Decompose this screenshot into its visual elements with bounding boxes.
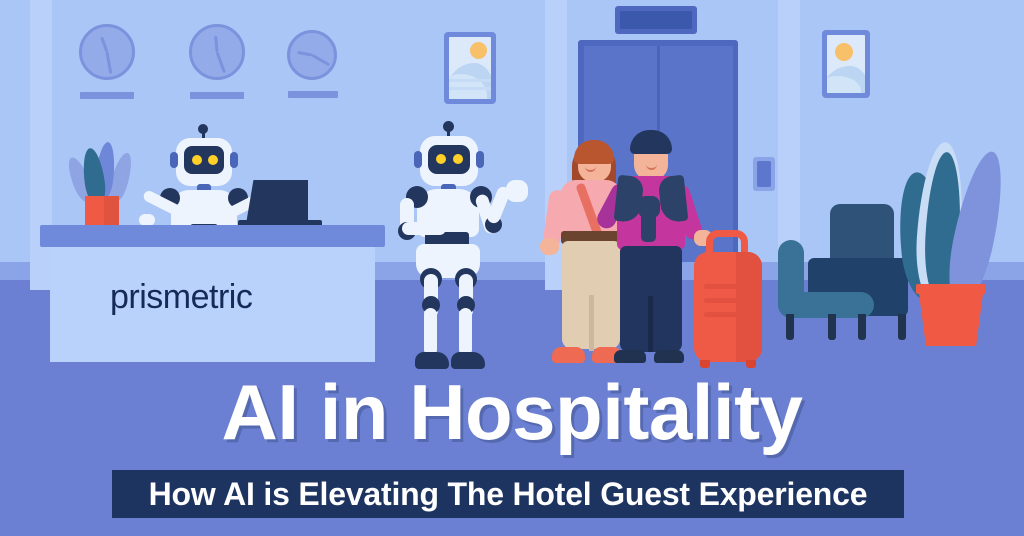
brand-logo: prismetric	[110, 278, 252, 317]
clock-hour-hand	[297, 51, 312, 57]
robot-ear-right	[230, 152, 238, 168]
robot-shin-right	[459, 308, 472, 356]
clock-minute-hand	[216, 51, 226, 73]
robot-antenna-ball	[198, 124, 208, 134]
elevator-indicator-screen	[620, 11, 692, 29]
clock-left-plate	[80, 92, 134, 99]
clock-left	[79, 24, 135, 80]
robot-eye-right	[453, 154, 463, 164]
armchair-leg	[858, 314, 866, 340]
guest-scarf-tail	[641, 212, 656, 242]
robot-antenna-ball	[443, 121, 454, 132]
laptop-screen	[246, 180, 308, 224]
guest-shoe-left	[552, 347, 585, 363]
page-title: AI in Hospitality	[0, 372, 1024, 452]
hospitality-banner: prismetric	[0, 0, 1024, 536]
guest-pants-split	[589, 295, 594, 351]
robot-shin-left	[424, 308, 437, 356]
wall-art-canvas	[449, 37, 491, 99]
wall-switch[interactable]	[753, 157, 775, 191]
guest-pants-split	[648, 296, 653, 352]
guest-shoe-right	[654, 350, 684, 363]
wall-art-left	[444, 32, 496, 104]
wall-art-canvas	[827, 35, 865, 93]
suitcase-shading	[736, 252, 762, 362]
wall-switch-plate	[757, 161, 771, 187]
robot-face-screen	[184, 146, 224, 174]
suitcase-stripe	[704, 312, 750, 317]
plant-pot	[918, 286, 984, 346]
suitcase-wheel	[700, 360, 710, 368]
page-subtitle: How AI is Elevating The Hotel Guest Expe…	[149, 476, 868, 513]
clock-right-plate	[288, 91, 338, 98]
elevator-indicator	[615, 6, 697, 34]
wall-art-right	[822, 30, 870, 98]
robot-ear-right	[476, 151, 484, 168]
reception-desk-counter	[40, 225, 385, 247]
robot-ear-left	[170, 152, 178, 168]
suitcase-wheel	[746, 360, 756, 368]
robot-face-screen	[428, 145, 470, 174]
clock-center-plate	[190, 92, 244, 99]
robot-forearm-left	[402, 222, 446, 235]
sun-icon	[470, 42, 487, 59]
clock-center	[189, 24, 245, 80]
clock-minute-hand	[311, 54, 330, 67]
armchair-leg	[786, 314, 794, 340]
robot-ear-left	[414, 151, 422, 168]
plant-pot-rim	[916, 284, 986, 294]
suitcase-stripe	[704, 284, 750, 289]
robot-eye-left	[192, 155, 202, 165]
sun-icon	[835, 43, 853, 61]
robot-foot-right	[451, 352, 485, 369]
clock-hour-hand	[100, 36, 108, 52]
guest-hand-left	[540, 238, 559, 255]
subtitle-bar: How AI is Elevating The Hotel Guest Expe…	[112, 470, 904, 518]
suitcase-stripe	[704, 298, 750, 303]
armchair-leg	[828, 314, 836, 340]
clock-minute-hand	[106, 52, 113, 74]
guest-shoe-left	[614, 350, 646, 363]
art-line	[449, 87, 491, 90]
armchair-leg	[898, 314, 906, 340]
clock-right	[287, 30, 337, 80]
robot-foot-left	[415, 352, 449, 369]
robot-eye-left	[436, 154, 446, 164]
robot-eye-right	[208, 155, 218, 165]
clock-hour-hand	[214, 36, 218, 52]
art-line	[449, 79, 491, 82]
robot-hand-right	[506, 180, 528, 202]
